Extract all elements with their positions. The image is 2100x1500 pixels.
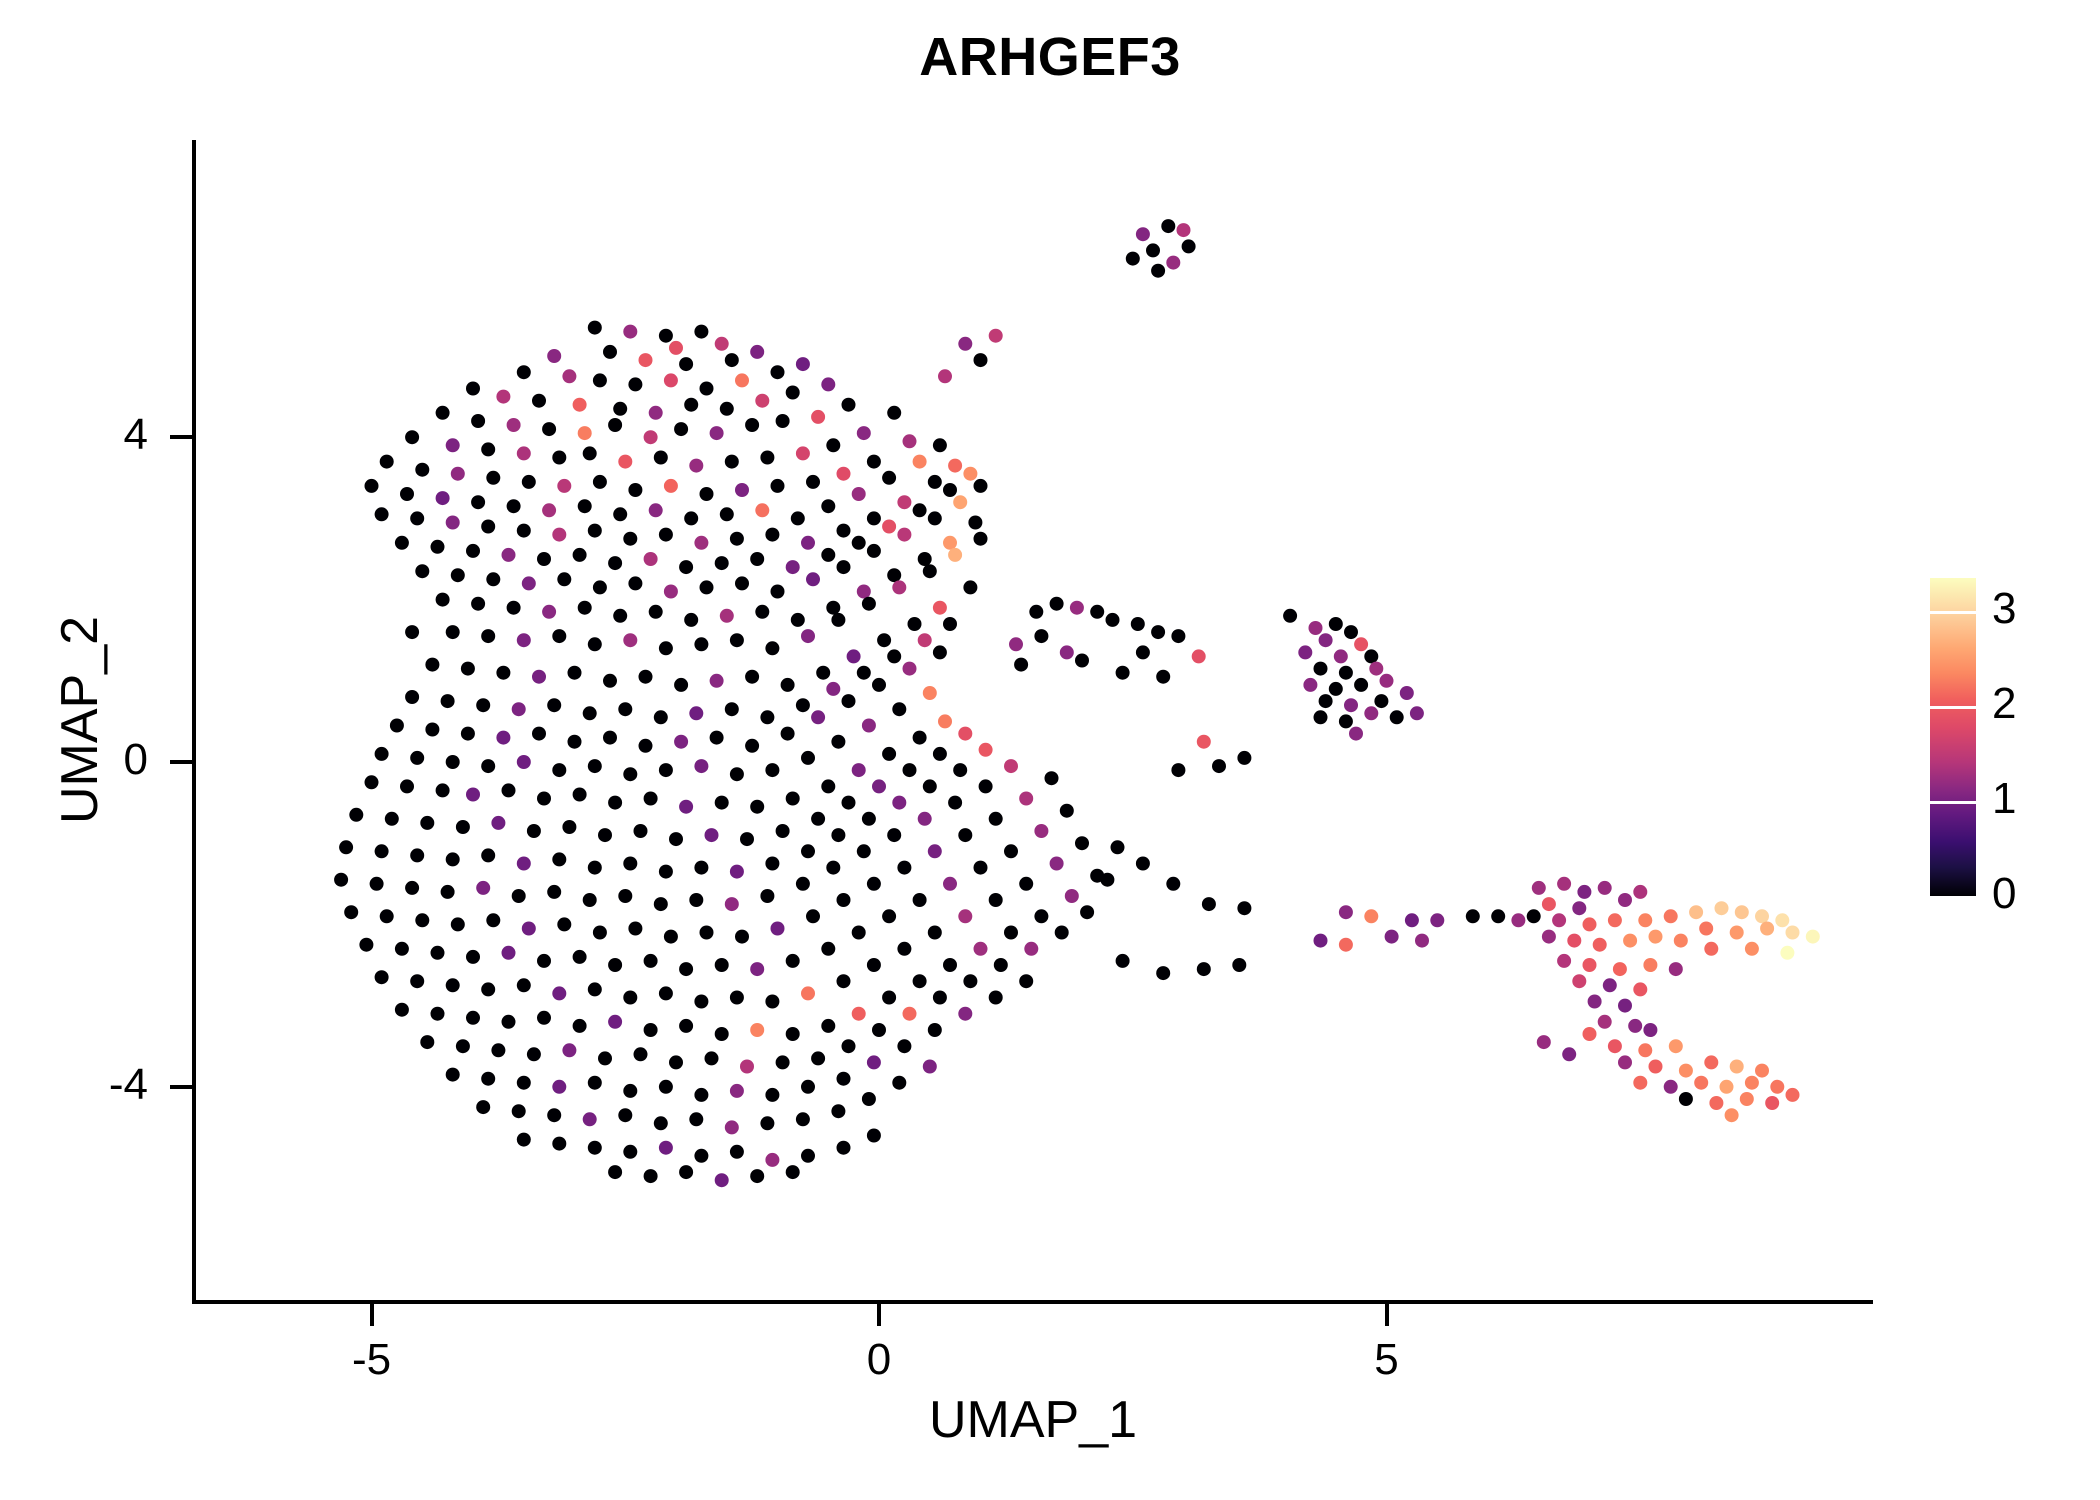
scatter-point: [1100, 873, 1114, 887]
scatter-point: [979, 779, 993, 793]
scatter-point: [659, 865, 673, 879]
scatter-point: [1019, 974, 1033, 988]
scatter-point: [562, 369, 576, 383]
scatter-point: [436, 491, 450, 505]
scatter-point: [446, 755, 460, 769]
scatter-point: [481, 1072, 495, 1086]
scatter-point: [593, 475, 607, 489]
scatter-point: [654, 710, 668, 724]
scatter-point: [1694, 1076, 1708, 1090]
colorbar-tick-label: 1: [1992, 777, 2016, 821]
scatter-point: [694, 995, 708, 1009]
scatter-point: [588, 1141, 602, 1155]
scatter-point: [897, 1039, 911, 1053]
scatter-point: [867, 1129, 881, 1143]
scatter-point: [573, 548, 587, 562]
scatter-point: [557, 917, 571, 931]
scatter-point: [1065, 889, 1079, 903]
scatter-point: [796, 1112, 810, 1126]
x-axis-line: [194, 1300, 1873, 1304]
scatter-point: [456, 820, 470, 834]
scatter-point: [1192, 649, 1206, 663]
scatter-point: [872, 1023, 886, 1037]
scatter-point: [1730, 1060, 1744, 1074]
scatter-point: [517, 1076, 531, 1090]
scatter-point: [700, 926, 714, 940]
scatter-point: [1715, 901, 1729, 915]
scatter-point: [1603, 978, 1617, 992]
scatter-point: [786, 792, 800, 806]
scatter-point: [1156, 670, 1170, 684]
scatter-point: [588, 861, 602, 875]
scatter-point: [542, 503, 556, 517]
scatter-point: [1080, 905, 1094, 919]
scatter-point: [1618, 999, 1632, 1013]
scatter-point: [1400, 686, 1414, 700]
scatter-point: [837, 560, 851, 574]
scatter-point: [527, 824, 541, 838]
scatter-point: [781, 727, 795, 741]
scatter-point: [913, 893, 927, 907]
scatter-point: [405, 690, 419, 704]
scatter-point: [1171, 629, 1185, 643]
scatter-point: [664, 585, 678, 599]
scatter-point: [903, 1007, 917, 1021]
scatter-point: [481, 442, 495, 456]
scatter-point: [913, 503, 927, 517]
scatter-point: [410, 848, 424, 862]
scatter-point: [1583, 958, 1597, 972]
scatter-point: [552, 528, 566, 542]
scatter-point: [1755, 1064, 1769, 1078]
scatter-point: [1111, 840, 1125, 854]
scatter-point: [730, 532, 744, 546]
scatter-point: [705, 828, 719, 842]
scatter-point: [908, 617, 922, 631]
scatter-point: [913, 731, 927, 745]
scatter-point: [608, 418, 622, 432]
scatter-point: [339, 840, 353, 854]
scatter-point: [963, 580, 977, 594]
scatter-point: [552, 629, 566, 643]
scatter-point: [471, 495, 485, 509]
scatter-point: [1075, 836, 1089, 850]
scatter-point: [928, 475, 942, 489]
colorbar-tick-mark: [1930, 706, 1976, 709]
scatter-point: [1745, 942, 1759, 956]
scatter-point: [466, 788, 480, 802]
plot-panel: [194, 140, 1873, 1302]
scatter-point: [1151, 264, 1165, 278]
scatter-point: [847, 649, 861, 663]
scatter-point: [928, 844, 942, 858]
scatter-point: [1755, 909, 1769, 923]
scatter-point: [537, 1011, 551, 1025]
scatter-point: [613, 402, 627, 416]
scatter-point: [943, 483, 957, 497]
scatter-point: [471, 597, 485, 611]
scatter-point: [522, 922, 536, 936]
scatter-point: [1029, 605, 1043, 619]
scatter-point: [441, 694, 455, 708]
scatter-point: [451, 568, 465, 582]
scatter-point: [958, 727, 972, 741]
scatter-point: [1760, 922, 1774, 936]
scatter-point: [481, 759, 495, 773]
scatter-point: [867, 455, 881, 469]
scatter-point: [765, 641, 779, 655]
scatter-point: [892, 1076, 906, 1090]
scatter-point: [1339, 938, 1353, 952]
scatter-point: [481, 848, 495, 862]
scatter-point: [557, 572, 571, 586]
scatter-point: [512, 702, 526, 716]
scatter-point: [552, 852, 566, 866]
scatter-point: [623, 1145, 637, 1159]
scatter-point: [1116, 954, 1130, 968]
scatter-point: [989, 812, 1003, 826]
scatter-point: [395, 536, 409, 550]
scatter-point: [1542, 897, 1556, 911]
scatter-point: [1309, 621, 1323, 635]
scatter-point: [1618, 893, 1632, 907]
scatter-point: [933, 645, 947, 659]
scatter-point: [1720, 1080, 1734, 1094]
scatter-point: [1527, 909, 1541, 923]
scatter-point: [862, 719, 876, 733]
scatter-point: [1390, 710, 1404, 724]
scatter-point: [811, 812, 825, 826]
scatter-point: [1364, 909, 1378, 923]
scatter-point: [481, 520, 495, 534]
scatter-point: [1034, 909, 1048, 923]
scatter-point: [578, 499, 592, 513]
scatter-point: [953, 495, 967, 509]
scatter-point: [664, 479, 678, 493]
scatter-point: [1354, 637, 1368, 651]
scatter-point: [857, 585, 871, 599]
scatter-point: [446, 1068, 460, 1082]
scatter-point: [608, 1015, 622, 1029]
scatter-point: [1542, 930, 1556, 944]
colorbar-gradient: [1930, 578, 1976, 896]
scatter-point: [562, 820, 576, 834]
scatter-point: [989, 893, 1003, 907]
scatter-point: [1329, 682, 1343, 696]
scatter-point: [613, 609, 627, 623]
scatter-point: [837, 467, 851, 481]
scatter-point: [664, 373, 678, 387]
scatter-point: [1735, 905, 1749, 919]
scatter-point: [918, 812, 932, 826]
scatter-point: [441, 885, 455, 899]
scatter-point: [918, 633, 932, 647]
scatter-point: [1679, 1092, 1693, 1106]
scatter-point: [679, 800, 693, 814]
scatter-point: [943, 536, 957, 550]
scatter-point: [431, 540, 445, 554]
scatter-point: [623, 325, 637, 339]
scatter-point: [963, 467, 977, 481]
scatter-point: [425, 723, 439, 737]
scatter-point: [923, 686, 937, 700]
scatter-point: [1623, 934, 1637, 948]
x-axis-title: UMAP_1: [693, 1390, 1373, 1450]
scatter-point: [740, 832, 754, 846]
scatter-point: [583, 893, 597, 907]
scatter-point: [1583, 917, 1597, 931]
scatter-point: [1380, 674, 1394, 688]
scatter-point: [750, 800, 764, 814]
scatter-point: [1319, 633, 1333, 647]
scatter-point: [365, 479, 379, 493]
scatter-point: [679, 1019, 693, 1033]
scatter-point: [710, 426, 724, 440]
scatter-point: [933, 991, 947, 1005]
scatter-point: [1709, 1096, 1723, 1110]
scatter-point: [831, 735, 845, 749]
scatter-point: [537, 954, 551, 968]
scatter-point: [913, 455, 927, 469]
scatter-point: [821, 779, 835, 793]
scatter-point: [502, 946, 516, 960]
scatter-points-layer: [194, 140, 1873, 1302]
scatter-point: [608, 556, 622, 570]
scatter-point: [867, 877, 881, 891]
scatter-point: [1283, 609, 1297, 623]
scatter-point: [588, 637, 602, 651]
scatter-point: [892, 580, 906, 594]
scatter-point: [552, 451, 566, 465]
scatter-point: [694, 637, 708, 651]
scatter-point: [578, 601, 592, 615]
scatter-point: [466, 1011, 480, 1025]
scatter-point: [410, 974, 424, 988]
scatter-point: [684, 398, 698, 412]
x-tick-label: 5: [1317, 1338, 1457, 1382]
scatter-point: [694, 1088, 708, 1102]
scatter-point: [431, 1007, 445, 1021]
scatter-point: [659, 528, 673, 542]
scatter-point: [1643, 1023, 1657, 1037]
scatter-point: [801, 1149, 815, 1163]
scatter-point: [568, 666, 582, 680]
scatter-point: [679, 560, 693, 574]
scatter-point: [512, 1104, 526, 1118]
scatter-point: [522, 576, 536, 590]
scatter-point: [644, 792, 658, 806]
scatter-point: [765, 1153, 779, 1167]
scatter-point: [1633, 1076, 1647, 1090]
colorbar-tick-mark: [1930, 896, 1976, 899]
scatter-point: [1786, 926, 1800, 940]
scatter-point: [370, 877, 384, 891]
scatter-point: [1151, 625, 1165, 639]
scatter-point: [588, 524, 602, 538]
scatter-point: [974, 532, 988, 546]
scatter-point: [1664, 909, 1678, 923]
scatter-point: [476, 698, 490, 712]
scatter-point: [1314, 934, 1328, 948]
y-axis-title: UMAP_2: [50, 380, 110, 1060]
scatter-point: [1572, 974, 1586, 988]
scatter-point: [796, 877, 810, 891]
scatter-point: [786, 1165, 800, 1179]
scatter-point: [842, 796, 856, 810]
scatter-point: [700, 580, 714, 594]
x-tick-label: 0: [809, 1338, 949, 1382]
scatter-point: [1004, 926, 1018, 940]
scatter-point: [689, 706, 703, 720]
scatter-point: [710, 731, 724, 745]
scatter-point: [1740, 1092, 1754, 1106]
scatter-point: [826, 601, 840, 615]
scatter-point: [1613, 962, 1627, 976]
scatter-point: [1237, 901, 1251, 915]
scatter-point: [1136, 857, 1150, 871]
scatter-point: [1532, 881, 1546, 895]
scatter-point: [1593, 938, 1607, 952]
scatter-point: [725, 455, 739, 469]
scatter-point: [689, 893, 703, 907]
scatter-point: [887, 828, 901, 842]
scatter-point: [1557, 954, 1571, 968]
scatter-point: [618, 889, 632, 903]
scatter-point: [796, 357, 810, 371]
scatter-point: [903, 763, 917, 777]
scatter-point: [375, 844, 389, 858]
scatter-point: [867, 544, 881, 558]
scatter-point: [720, 402, 734, 416]
scatter-point: [694, 1149, 708, 1163]
scatter-point: [715, 1173, 729, 1187]
scatter-point: [887, 568, 901, 582]
scatter-point: [502, 1015, 516, 1029]
scatter-point: [897, 495, 911, 509]
scatter-point: [1197, 962, 1211, 976]
scatter-point: [507, 601, 521, 615]
scatter-point: [735, 930, 749, 944]
scatter-point: [801, 536, 815, 550]
scatter-point: [689, 1112, 703, 1126]
scatter-point: [588, 982, 602, 996]
scatter-point: [958, 337, 972, 351]
chart-root: ARHGEF3 -50540-4 UMAP_1 UMAP_2 3210: [0, 0, 2100, 1500]
scatter-point: [1197, 735, 1211, 749]
scatter-point: [684, 613, 698, 627]
scatter-point: [481, 982, 495, 996]
scatter-point: [852, 536, 866, 550]
scatter-point: [928, 926, 942, 940]
scatter-point: [1319, 694, 1333, 708]
scatter-point: [1131, 617, 1145, 631]
scatter-point: [659, 1080, 673, 1094]
scatter-point: [664, 930, 678, 944]
scatter-point: [750, 345, 764, 359]
scatter-point: [446, 438, 460, 452]
scatter-point: [700, 487, 714, 501]
scatter-point: [892, 702, 906, 716]
scatter-point: [842, 694, 856, 708]
scatter-point: [837, 1072, 851, 1086]
scatter-point: [593, 580, 607, 594]
scatter-point: [771, 922, 785, 936]
scatter-point: [755, 394, 769, 408]
scatter-point: [573, 788, 587, 802]
scatter-point: [831, 1104, 845, 1118]
scatter-point: [1314, 710, 1328, 724]
scatter-point: [710, 674, 724, 688]
scatter-point: [644, 1169, 658, 1183]
scatter-point: [897, 942, 911, 956]
scatter-point: [791, 613, 805, 627]
scatter-point: [517, 633, 531, 647]
scatter-point: [852, 1007, 866, 1021]
scatter-point: [887, 406, 901, 420]
scatter-point: [1466, 909, 1480, 923]
scatter-point: [842, 398, 856, 412]
y-axis-line: [192, 140, 196, 1304]
scatter-point: [623, 633, 637, 647]
scatter-point: [1679, 1064, 1693, 1078]
scatter-point: [730, 1145, 744, 1159]
scatter-point: [608, 1165, 622, 1179]
scatter-point: [831, 613, 845, 627]
scatter-point: [568, 735, 582, 749]
scatter-point: [349, 808, 363, 822]
scatter-point: [1618, 1055, 1632, 1069]
scatter-point: [517, 524, 531, 538]
scatter-point: [745, 739, 759, 753]
scatter-point: [943, 877, 957, 891]
scatter-point: [771, 479, 785, 493]
scatter-point: [715, 958, 729, 972]
scatter-point: [1349, 727, 1363, 741]
scatter-point: [796, 698, 810, 712]
scatter-point: [639, 353, 653, 367]
scatter-point: [837, 893, 851, 907]
scatter-point: [618, 1108, 632, 1122]
scatter-point: [1649, 930, 1663, 944]
scatter-point: [532, 394, 546, 408]
scatter-point: [1633, 885, 1647, 899]
scatter-point: [857, 844, 871, 858]
scatter-point: [1770, 1080, 1784, 1094]
scatter-point: [1156, 966, 1170, 980]
colorbar-tick-mark: [1930, 801, 1976, 804]
scatter-point: [1598, 1015, 1612, 1029]
scatter-point: [1725, 1108, 1739, 1122]
scatter-point: [628, 576, 642, 590]
scatter-point: [913, 974, 927, 988]
scatter-point: [405, 881, 419, 895]
scatter-point: [867, 958, 881, 972]
scatter-point: [517, 1133, 531, 1147]
colorbar-tick-label: 0: [1992, 872, 2016, 916]
scatter-point: [375, 970, 389, 984]
scatter-point: [1643, 958, 1657, 972]
scatter-point: [537, 792, 551, 806]
scatter-point: [1765, 1096, 1779, 1110]
scatter-point: [750, 962, 764, 976]
scatter-point: [674, 678, 688, 692]
scatter-point: [654, 1116, 668, 1130]
scatter-point: [1562, 1047, 1576, 1061]
scatter-point: [1232, 958, 1246, 972]
scatter-point: [486, 572, 500, 586]
scatter-point: [1090, 605, 1104, 619]
scatter-point: [1055, 926, 1069, 940]
